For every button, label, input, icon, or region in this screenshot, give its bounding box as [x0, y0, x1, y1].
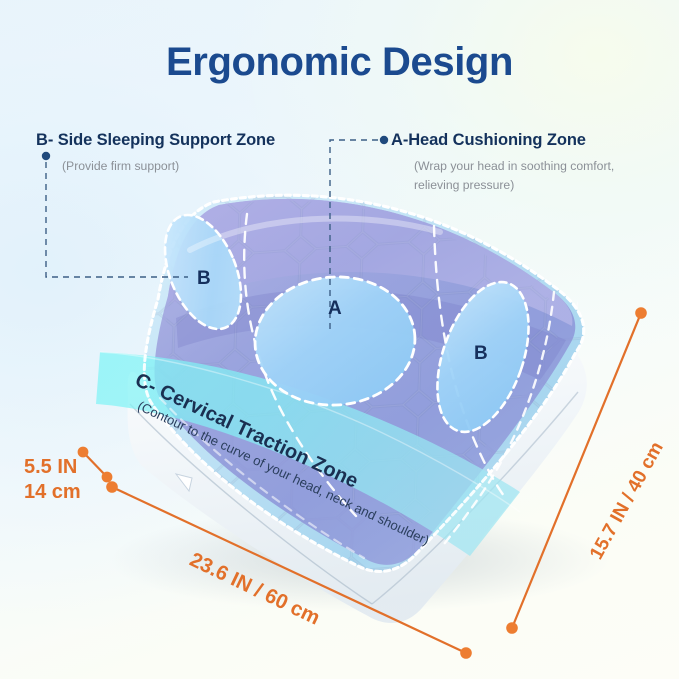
zone-letter-a: A: [328, 298, 342, 320]
dimension-thickness-cm: 14 cm: [24, 480, 81, 505]
dimension-thickness-inches: 5.5 IN: [24, 455, 81, 480]
callout-zone-a-subtitle: (Wrap your head in soothing comfort, rel…: [414, 157, 629, 195]
dimension-lines: [0, 0, 679, 679]
dimension-thickness: 5.5 IN 14 cm: [24, 455, 81, 505]
zone-letter-b-right: B: [474, 343, 488, 365]
artboard: Ergonomic Design B- Side Sleeping Suppor…: [0, 0, 679, 679]
callout-zone-b-subtitle: (Provide firm support): [62, 157, 275, 176]
callout-zone-a: A-Head Cushioning Zone (Wrap your head i…: [391, 131, 629, 195]
callout-zone-a-heading: A-Head Cushioning Zone: [391, 131, 629, 150]
page-title: Ergonomic Design: [0, 40, 679, 85]
callout-zone-b: B- Side Sleeping Support Zone (Provide f…: [36, 131, 275, 176]
product-infographic: Ergonomic Design B- Side Sleeping Suppor…: [0, 0, 679, 679]
callout-zone-b-heading: B- Side Sleeping Support Zone: [36, 131, 275, 150]
zone-letter-b-left: B: [197, 268, 211, 290]
